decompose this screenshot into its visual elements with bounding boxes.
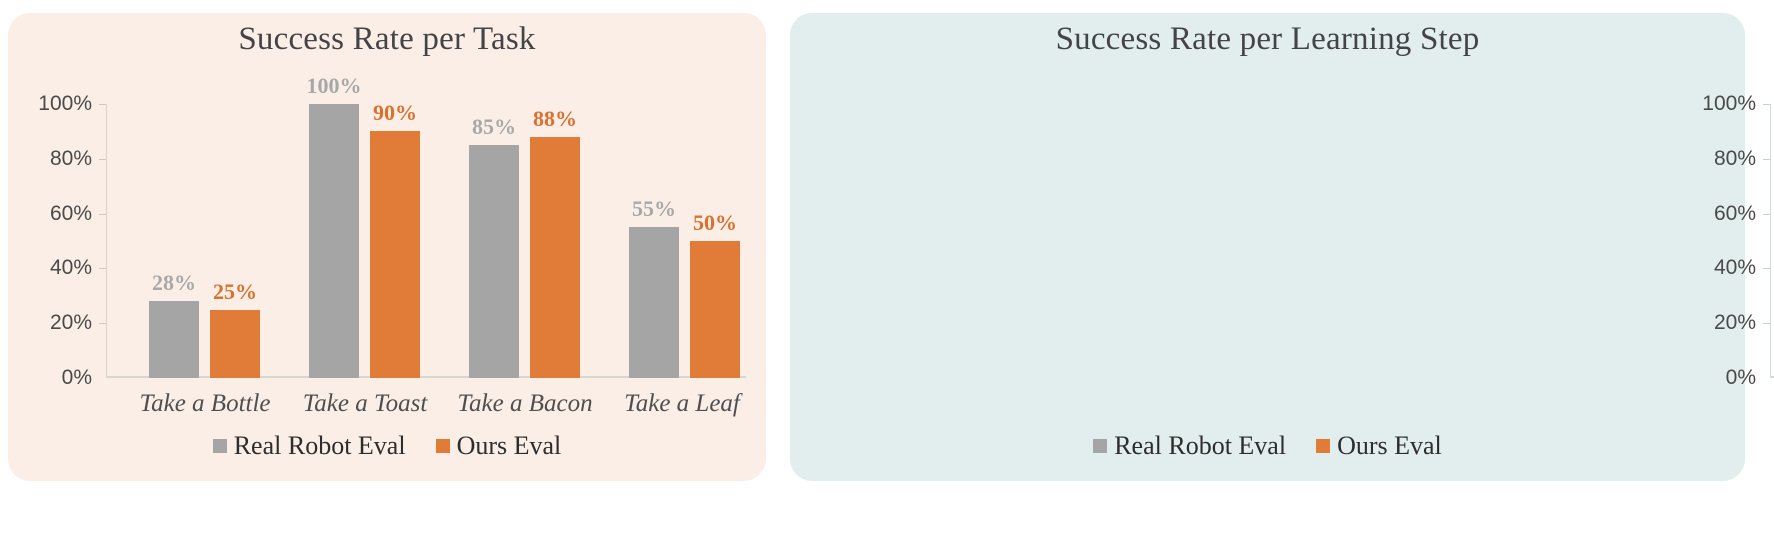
category-label-take-a-bottle: Take a Bottle	[139, 390, 270, 418]
bar-group-take-a-leaf: 55% 50% Take a Leaf	[613, 104, 773, 378]
y-tick-task-20	[99, 323, 106, 324]
y-axis-label-step-0: 0%	[1726, 366, 1756, 390]
y-axis-label-task-40: 40%	[50, 256, 92, 280]
legend-swatch-gray-icon	[213, 439, 227, 453]
bar-value-task-toast-ours: 90%	[373, 100, 417, 126]
bar-value-task-bacon-real: 85%	[472, 114, 516, 140]
legend-item-real-robot-eval-task[interactable]: Real Robot Eval	[213, 431, 406, 461]
bar-value-task-leaf-real: 55%	[632, 196, 676, 222]
y-tick-step-100	[1763, 104, 1770, 105]
chart-title-step: Success Rate per Learning Step	[790, 21, 1745, 58]
category-label-take-a-bacon: Take a Bacon	[457, 390, 592, 418]
bar-group-take-a-bottle: 28% 25% Take a Bottle	[133, 104, 293, 378]
y-axis-line-step	[1770, 104, 1771, 378]
legend-step: Real Robot Eval Ours Eval	[790, 431, 1745, 461]
bar-value-task-toast-real: 100%	[307, 73, 362, 99]
bar-task-toast-ours[interactable]: 90%	[370, 131, 420, 378]
y-tick-task-40	[99, 268, 106, 269]
bar-group-take-a-toast: 100% 90% Take a Toast	[293, 104, 453, 378]
bar-task-bottle-ours[interactable]: 25%	[210, 310, 260, 379]
legend-swatch-orange-icon	[436, 439, 450, 453]
legend-label-ours-eval: Ours Eval	[1337, 431, 1442, 461]
legend-task: Real Robot Eval Ours Eval	[8, 431, 766, 461]
bar-task-toast-real[interactable]: 100%	[309, 104, 359, 378]
plot-area-step: 100% 80% 60% 40% 20% 0% 40% 40% 4K 61%	[1770, 104, 1774, 378]
bar-value-task-bottle-real: 28%	[152, 270, 196, 296]
figure-root: Success Rate per Task 100% 80% 60% 40% 2…	[0, 0, 1774, 550]
chart-panel-success-rate-per-learning-step: Success Rate per Learning Step 100% 80% …	[790, 13, 1745, 481]
y-axis-label-step-100: 100%	[1702, 92, 1756, 116]
y-axis-label-step-60: 60%	[1714, 202, 1756, 226]
y-tick-step-20	[1763, 323, 1770, 324]
bar-task-bacon-real[interactable]: 85%	[469, 145, 519, 378]
y-tick-task-60	[99, 214, 106, 215]
y-tick-step-60	[1763, 214, 1770, 215]
y-axis-label-task-100: 100%	[38, 92, 92, 116]
y-axis-label-task-80: 80%	[50, 147, 92, 171]
legend-item-ours-eval-task[interactable]: Ours Eval	[436, 431, 562, 461]
chart-panel-success-rate-per-task: Success Rate per Task 100% 80% 60% 40% 2…	[8, 13, 766, 481]
bar-value-task-leaf-ours: 50%	[693, 210, 737, 236]
plot-area-task: 100% 80% 60% 40% 20% 0% 28% 25% Take a B…	[106, 104, 746, 378]
y-axis-label-step-20: 20%	[1714, 311, 1756, 335]
y-tick-task-100	[99, 104, 106, 105]
legend-swatch-orange-icon	[1316, 439, 1330, 453]
y-axis-line-task	[106, 104, 107, 378]
y-tick-step-80	[1763, 159, 1770, 160]
legend-label-real-robot-eval: Real Robot Eval	[1114, 431, 1286, 461]
legend-item-ours-eval-step[interactable]: Ours Eval	[1316, 431, 1442, 461]
legend-label-real-robot-eval: Real Robot Eval	[234, 431, 406, 461]
bar-value-task-bottle-ours: 25%	[213, 279, 257, 305]
bar-group-take-a-bacon: 85% 88% Take a Bacon	[453, 104, 613, 378]
bar-task-bottle-real[interactable]: 28%	[149, 301, 199, 378]
y-axis-label-step-40: 40%	[1714, 256, 1756, 280]
bar-task-leaf-ours[interactable]: 50%	[690, 241, 740, 378]
y-axis-label-task-20: 20%	[50, 311, 92, 335]
chart-title-task: Success Rate per Task	[8, 21, 766, 58]
y-tick-step-40	[1763, 268, 1770, 269]
category-label-take-a-leaf: Take a Leaf	[624, 390, 740, 418]
legend-swatch-gray-icon	[1093, 439, 1107, 453]
legend-item-real-robot-eval-step[interactable]: Real Robot Eval	[1093, 431, 1286, 461]
y-axis-label-step-80: 80%	[1714, 147, 1756, 171]
category-label-take-a-toast: Take a Toast	[303, 390, 428, 418]
bar-value-task-bacon-ours: 88%	[533, 106, 577, 132]
y-axis-label-task-0: 0%	[62, 366, 92, 390]
bar-task-bacon-ours[interactable]: 88%	[530, 137, 580, 378]
legend-label-ours-eval: Ours Eval	[457, 431, 562, 461]
bar-task-leaf-real[interactable]: 55%	[629, 227, 679, 378]
x-axis-baseline-step	[1770, 376, 1774, 378]
y-axis-label-task-60: 60%	[50, 202, 92, 226]
y-tick-task-80	[99, 159, 106, 160]
